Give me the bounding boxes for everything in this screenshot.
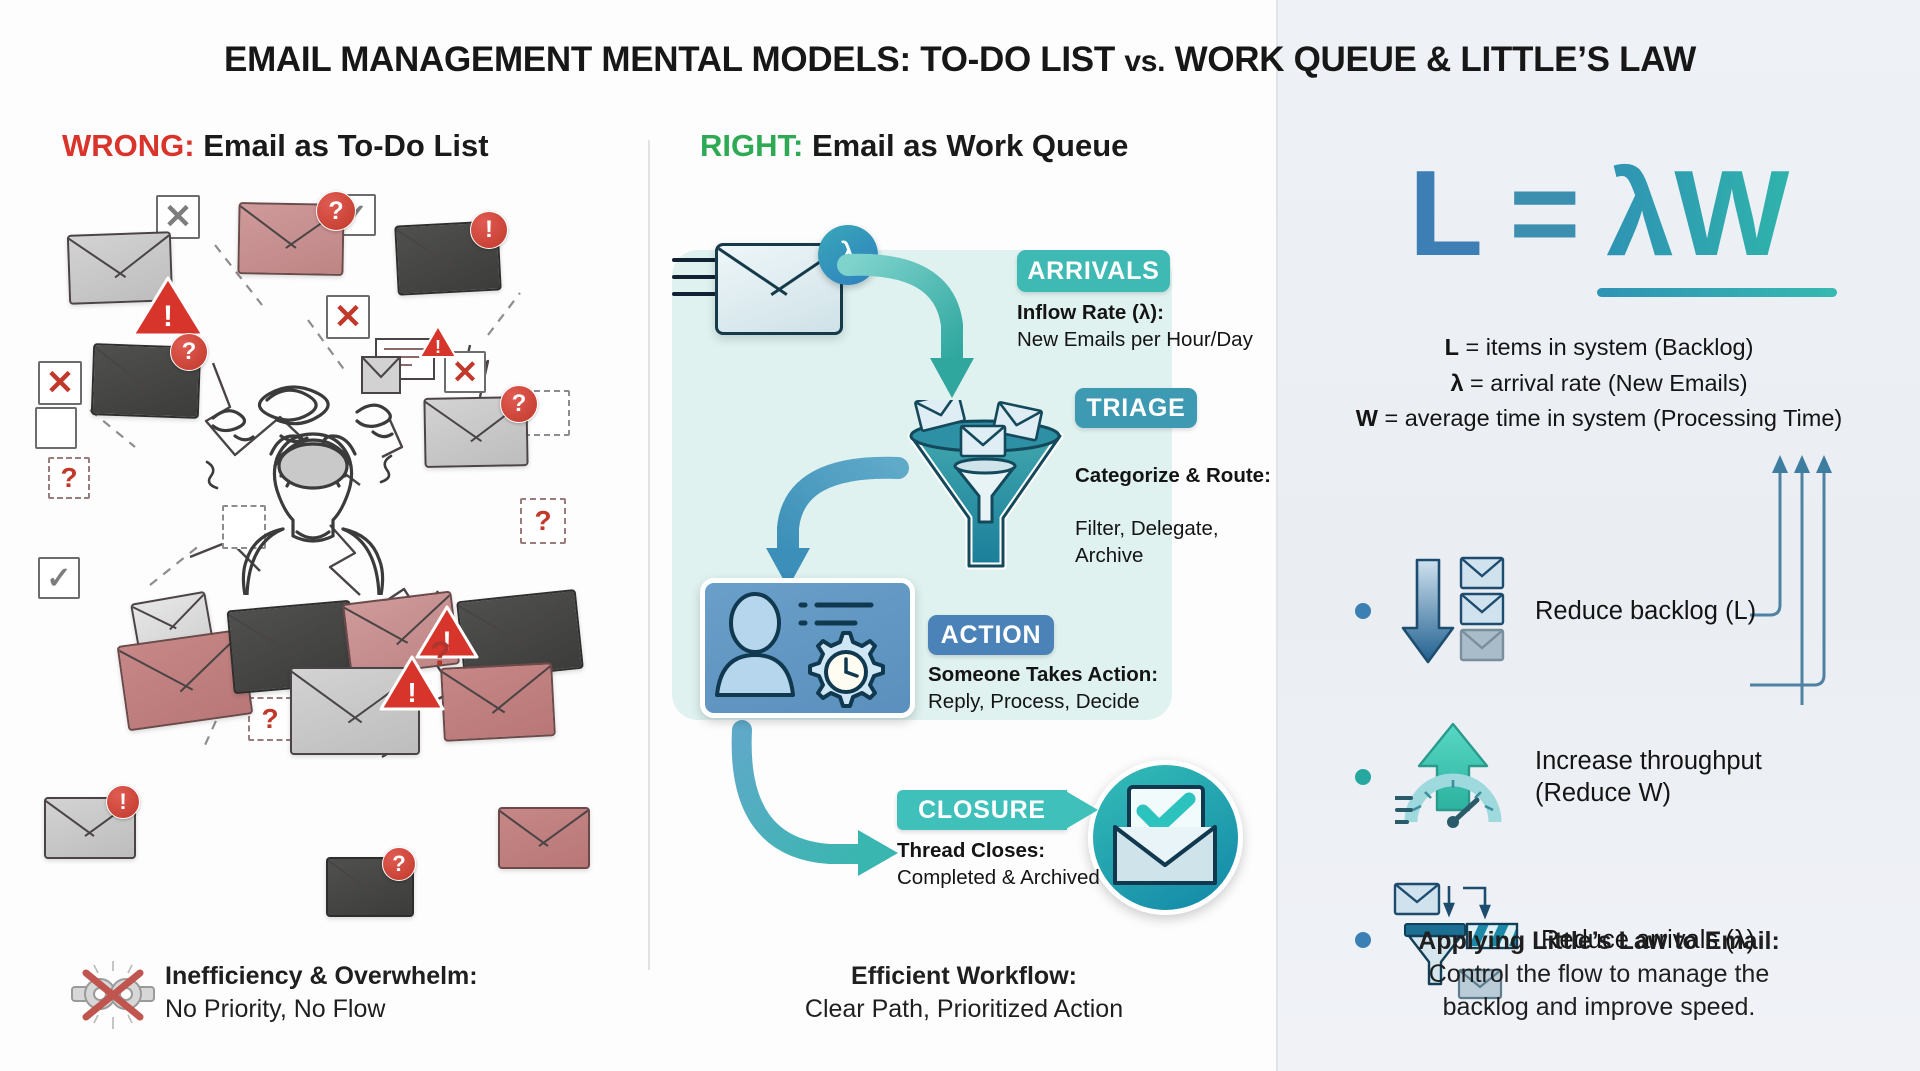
right-caption: Applying Little’s Law to Email: Control … [1278,925,1920,1024]
page-title-vs: vs. [1124,45,1165,78]
bullet-label: Reduce backlog (L) [1535,595,1756,627]
triage-text: Filter, Delegate, Archive [1075,517,1219,567]
closure-text: Completed & Archived [897,866,1100,889]
infographic-root: EMAIL MANAGEMENT MENTAL MODELS: TO-DO LI… [0,0,1920,1071]
left-caption: Inefficiency & Overwhelm: No Priority, N… [165,960,478,1026]
right-caption-bold: Applying Little’s Law to Email: [1418,927,1780,955]
page-title-main: EMAIL MANAGEMENT MENTAL MODELS: TO-DO LI… [224,40,1124,79]
exclamation-badge: ! [470,211,508,249]
arrivals-bold: Inflow Rate (λ): [1017,301,1164,324]
question-badge: ? [170,333,208,371]
svg-text:!: ! [163,300,173,333]
crossed-checkbox: ✕ [38,361,82,405]
formula-underline [1597,288,1837,297]
stressed-person-icon [205,340,420,595]
dashed-question-box: ? [520,498,566,544]
broken-gear-icon [70,955,156,1035]
littles-law-formula: L=λW [1278,152,1920,274]
formula-lambda-w: λW [1606,145,1789,281]
dashed-question-box: ? [48,457,90,499]
svg-text:!: ! [435,337,441,357]
question-icon: ? [50,459,88,497]
closure-arrow-icon [1064,782,1102,838]
triage-description: Categorize & Route: Filter, Delegate, Ar… [1075,436,1271,569]
exclamation-badge: ! [106,785,140,819]
bullet-reduce-backlog: Reduce backlog (L) [1355,552,1756,670]
closure-bold: Thread Closes: [897,839,1045,862]
action-bold: Someone Takes Action: [928,663,1158,686]
triage-bold: Categorize & Route: [1075,464,1271,487]
formula-L: L [1409,145,1484,281]
definition-row: W = average time in system (Processing T… [1278,401,1920,437]
warning-triangle-icon: ! [130,273,206,341]
chaos-scene: ✕ ✓ ✕ ✕ ✕ ? ✓ ? ✕ ? [30,185,630,905]
mid-caption-bold: Efficient Workflow: [851,962,1077,990]
arrivals-text: New Emails per Hour/Day [1017,328,1253,351]
cross-icon: ✕ [328,297,368,337]
definition-row: λ = arrival rate (New Emails) [1278,366,1920,402]
question-badge: ? [382,847,416,881]
bullet-dot [1355,769,1371,785]
left-section-header: WRONG: Email as To-Do List [62,128,489,164]
envelope [498,807,590,869]
left-caption-bold: Inefficiency & Overwhelm: [165,962,478,990]
bullet-dot [1355,603,1371,619]
question-badge: ? [316,191,356,231]
down-arrow-envelopes-icon [1395,552,1513,670]
bullet-increase-throughput: Increase throughput (Reduce W) [1355,718,1762,836]
warning-triangle-icon: ! [418,323,458,361]
question-icon: ? [522,500,564,542]
mid-section-header: RIGHT: Email as Work Queue [700,128,1128,164]
action-description: Someone Takes Action: Reply, Process, De… [928,662,1158,715]
left-header-rest: Email as To-Do List [195,128,489,163]
question-mark-floating: ? [430,635,451,674]
action-card [700,578,915,718]
action-text: Reply, Process, Decide [928,690,1140,713]
bullet-label: Increase throughput (Reduce W) [1535,745,1762,809]
svg-text:!: ! [407,677,416,708]
mid-caption: Efficient Workflow: Clear Path, Prioriti… [650,960,1278,1026]
definition-row: L = items in system (Backlog) [1278,330,1920,366]
closure-description: Thread Closes: Completed & Archived [897,838,1100,891]
chip-closure: CLOSURE [897,790,1067,830]
gauge-up-arrow-icon [1395,718,1513,836]
left-caption-text: No Priority, No Flow [165,995,385,1023]
mid-caption-text: Clear Path, Prioritized Action [805,995,1123,1023]
empty-checkbox [35,407,77,449]
envelope-check-icon [1093,765,1238,910]
wrong-tag: WRONG: [62,128,195,163]
cross-icon: ✕ [40,363,80,403]
right-tag: RIGHT: [700,128,803,163]
person-gear-clock-icon [705,583,910,713]
arrivals-description: Inflow Rate (λ): New Emails per Hour/Day [1017,300,1253,353]
page-title: EMAIL MANAGEMENT MENTAL MODELS: TO-DO LI… [0,40,1920,80]
triage-funnel-icon [903,400,1068,575]
chip-arrivals: ARRIVALS [1017,250,1170,292]
page-title-tail: WORK QUEUE & LITTLE’S LAW [1165,40,1696,79]
question-badge: ? [500,385,538,423]
chip-action: ACTION [928,615,1054,655]
formula-equals: = [1509,145,1580,281]
chip-triage: TRIAGE [1075,388,1197,428]
check-icon: ✓ [40,559,78,597]
crossed-checkbox: ✕ [326,295,370,339]
envelope [440,662,556,742]
question-icon: ? [250,699,290,739]
dashed-question-box: ? [248,697,292,741]
checkbox-check: ✓ [38,557,80,599]
right-caption-text: Control the flow to manage the backlog a… [1429,960,1769,1021]
mid-header-rest: Email as Work Queue [803,128,1128,163]
closure-badge-icon [1088,760,1243,915]
formula-definitions: L = items in system (Backlog) λ = arriva… [1278,330,1920,437]
feedback-arrows [1750,455,1920,705]
